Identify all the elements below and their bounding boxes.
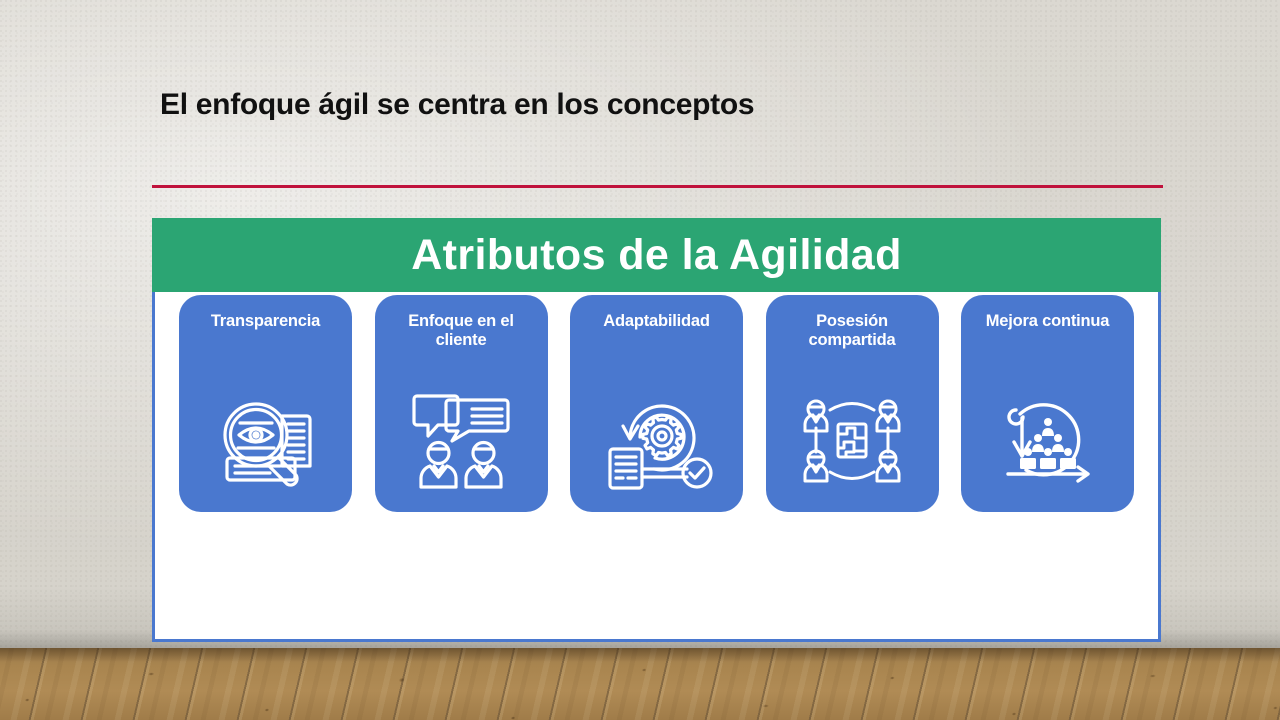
gear-cycle-checklist-icon: [599, 388, 715, 492]
attribute-card-mejora-continua[interactable]: Mejora continua: [961, 295, 1134, 512]
attribute-card-adaptabilidad[interactable]: Adaptabilidad: [570, 295, 743, 512]
attribute-card-transparencia[interactable]: Transparencia: [179, 295, 352, 512]
attribute-card-label: Posesión compartida: [775, 312, 930, 351]
attribute-card-list: Transparencia: [179, 295, 1134, 512]
attribute-card-enfoque-cliente[interactable]: Enfoque en el cliente: [375, 295, 548, 512]
team-network-board-icon: [794, 388, 910, 492]
magnifier-eye-document-icon: [208, 388, 324, 492]
page-title: El enfoque ágil se centra en los concept…: [160, 88, 754, 122]
title-divider-rule: [152, 185, 1163, 188]
attribute-card-label: Enfoque en el cliente: [384, 312, 539, 351]
attribute-card-label: Transparencia: [188, 312, 343, 331]
sprint-loop-people-pyramid-icon: [990, 388, 1106, 492]
floor-top-shading: [0, 648, 1280, 662]
attribute-card-label: Mejora continua: [970, 312, 1125, 331]
graphic-banner: Atributos de la Agilidad: [152, 218, 1161, 292]
wood-floor-background: [0, 648, 1280, 720]
speech-bubbles-people-icon: [403, 388, 519, 492]
attribute-card-label: Adaptabilidad: [579, 312, 734, 331]
graphic-banner-title: Atributos de la Agilidad: [411, 231, 902, 280]
agility-attributes-graphic: Atributos de la Agilidad Transparencia: [152, 218, 1161, 645]
attribute-card-posesion-compartida[interactable]: Posesión compartida: [766, 295, 939, 512]
